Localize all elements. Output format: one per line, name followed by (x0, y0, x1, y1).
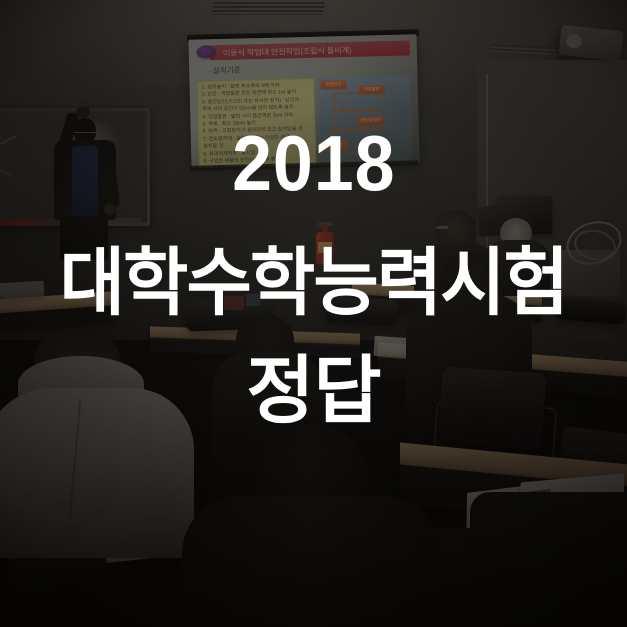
whiteboard-marking (0, 135, 16, 145)
projection-screen: 이동식 작업대 안전작업(조립식 틀비계) · 설치기준 1. 설치높이 : 밑… (188, 34, 419, 168)
instructor-fist (104, 204, 116, 215)
ceiling-projector (559, 25, 624, 61)
desk-item (246, 294, 260, 306)
glasses-icon (74, 132, 96, 137)
instructor (46, 108, 130, 256)
instructor-vest (72, 146, 98, 220)
slide-badge-icon (197, 45, 216, 58)
slide-body: 1. 설치높이 : 밑변 최소폭의 4배 이하 2. 난간 : 작업발판 모든 … (196, 75, 412, 167)
wall-panel (558, 250, 620, 296)
desk-item (224, 296, 244, 310)
slide-title: 이동식 작업대 안전작업(조립식 틀비계) (223, 44, 352, 59)
ceiling-vent-icon (211, 2, 325, 15)
slide-photo-diagram: 안전난간 작업발판 전도방지대 바퀴고정 (318, 75, 413, 167)
instructor-hand (76, 106, 90, 118)
chair (437, 366, 546, 449)
slide-section-label: · 설치기준 (208, 60, 410, 76)
glasses-icon (436, 226, 448, 229)
slide-title-bar: 이동식 작업대 안전작업(조립식 틀비계) (210, 40, 410, 60)
instructor-legs (60, 216, 108, 260)
chair (325, 296, 398, 326)
fire-extinguisher-label (318, 242, 332, 253)
slide-bullet-list: 1. 설치높이 : 밑변 최소폭의 4배 이하 2. 난간 : 작업발판 모든 … (202, 82, 313, 168)
slide-callout: 안전난간 (321, 80, 347, 90)
classroom-photo: 이동식 작업대 안전작업(조립식 틀비계) · 설치기준 1. 설치높이 : 밑… (0, 0, 627, 627)
student-hoodie (0, 388, 194, 558)
slide-callout: 전도방지대 (357, 116, 383, 126)
whiteboard-marking (0, 168, 11, 175)
foreground-student-torso (182, 496, 440, 627)
student-legs (470, 492, 627, 627)
paper-sheet (0, 281, 44, 299)
slide-callout: 작업발판 (359, 85, 385, 95)
fire-extinguisher (316, 222, 334, 264)
screenshot-root: 이동식 작업대 안전작업(조립식 틀비계) · 설치기준 1. 설치높이 : 밑… (0, 0, 627, 627)
presentation-slide: 이동식 작업대 안전작업(조립식 틀비계) · 설치기준 1. 설치높이 : 밑… (188, 34, 419, 168)
slide-content-box: 1. 설치높이 : 밑변 최소폭의 4배 이하 2. 난간 : 작업발판 모든 … (196, 78, 317, 168)
slide-callout: 바퀴고정 (321, 141, 347, 151)
